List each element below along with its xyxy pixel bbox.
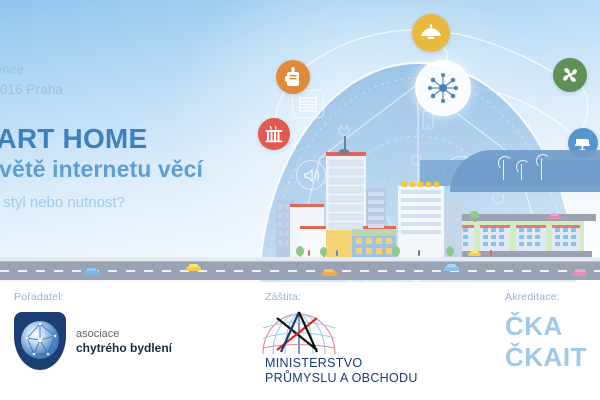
kicker-line-1: Konference: [0, 60, 274, 80]
accreditation-label: Akreditace:: [505, 291, 587, 303]
hero-sky: Konference 20. 9. 2016 Praha SMART HOME …: [0, 0, 600, 282]
footer-accreditation: Akreditace: ČKA ČKAIT: [505, 291, 587, 371]
acb-name-line-1: asociace: [76, 327, 172, 341]
organizer-label: Pořadatel:: [14, 291, 172, 303]
car-orange: [322, 271, 337, 276]
footer-logos: Pořadatel:: [0, 282, 600, 400]
cka-logo-line-1: ČKA: [505, 313, 587, 340]
cka-logo-line-2: ČKAIT: [505, 344, 587, 371]
kicker-line-2: 20. 9. 2016 Praha: [0, 80, 274, 100]
acb-shield-logo: [14, 312, 66, 370]
car-yellow: [186, 266, 201, 271]
car-lightblue: [444, 266, 459, 271]
tree-icon: [296, 246, 304, 256]
boiler-icon: [276, 60, 310, 94]
pedestrian: [382, 250, 384, 256]
ministry-name-line-2: PRŮMYSLU A OBCHODU: [265, 371, 418, 386]
tree-icon: [470, 211, 479, 219]
footer-patronage: Záštita:: [265, 291, 418, 386]
car-blue: [84, 270, 99, 275]
tree-icon: [392, 246, 400, 256]
ministry-name-line-1: MINISTERSTVO: [265, 356, 418, 371]
patronage-label: Záštita:: [265, 291, 418, 303]
tree-icon: [446, 246, 454, 256]
network-node-icon: [415, 60, 471, 116]
page-tagline: Životní styl nebo nutnost?: [0, 193, 274, 213]
car-suburb-yellow: [468, 252, 481, 256]
pedestrian: [490, 250, 492, 256]
pedestrian: [336, 250, 338, 256]
car-pink: [572, 271, 587, 276]
conference-poster: Konference 20. 9. 2016 Praha SMART HOME …: [0, 0, 600, 400]
blinds-icon: [292, 90, 324, 118]
ministry-dome-logo: [259, 310, 333, 354]
page-subtitle: ve světě internetu věcí: [0, 155, 274, 184]
footer-organizer: Pořadatel:: [14, 291, 172, 370]
hero-text-block: Konference 20. 9. 2016 Praha SMART HOME …: [0, 60, 274, 213]
pedestrian: [418, 250, 420, 256]
pedestrian: [308, 250, 310, 256]
fan-icon: [553, 58, 587, 92]
page-title: SMART HOME: [0, 122, 274, 155]
lamp-icon: [412, 14, 450, 52]
tree-icon: [320, 247, 327, 256]
acb-name-line-2: chytrého bydlení: [76, 341, 172, 356]
car-suburb-pink: [548, 215, 561, 219]
